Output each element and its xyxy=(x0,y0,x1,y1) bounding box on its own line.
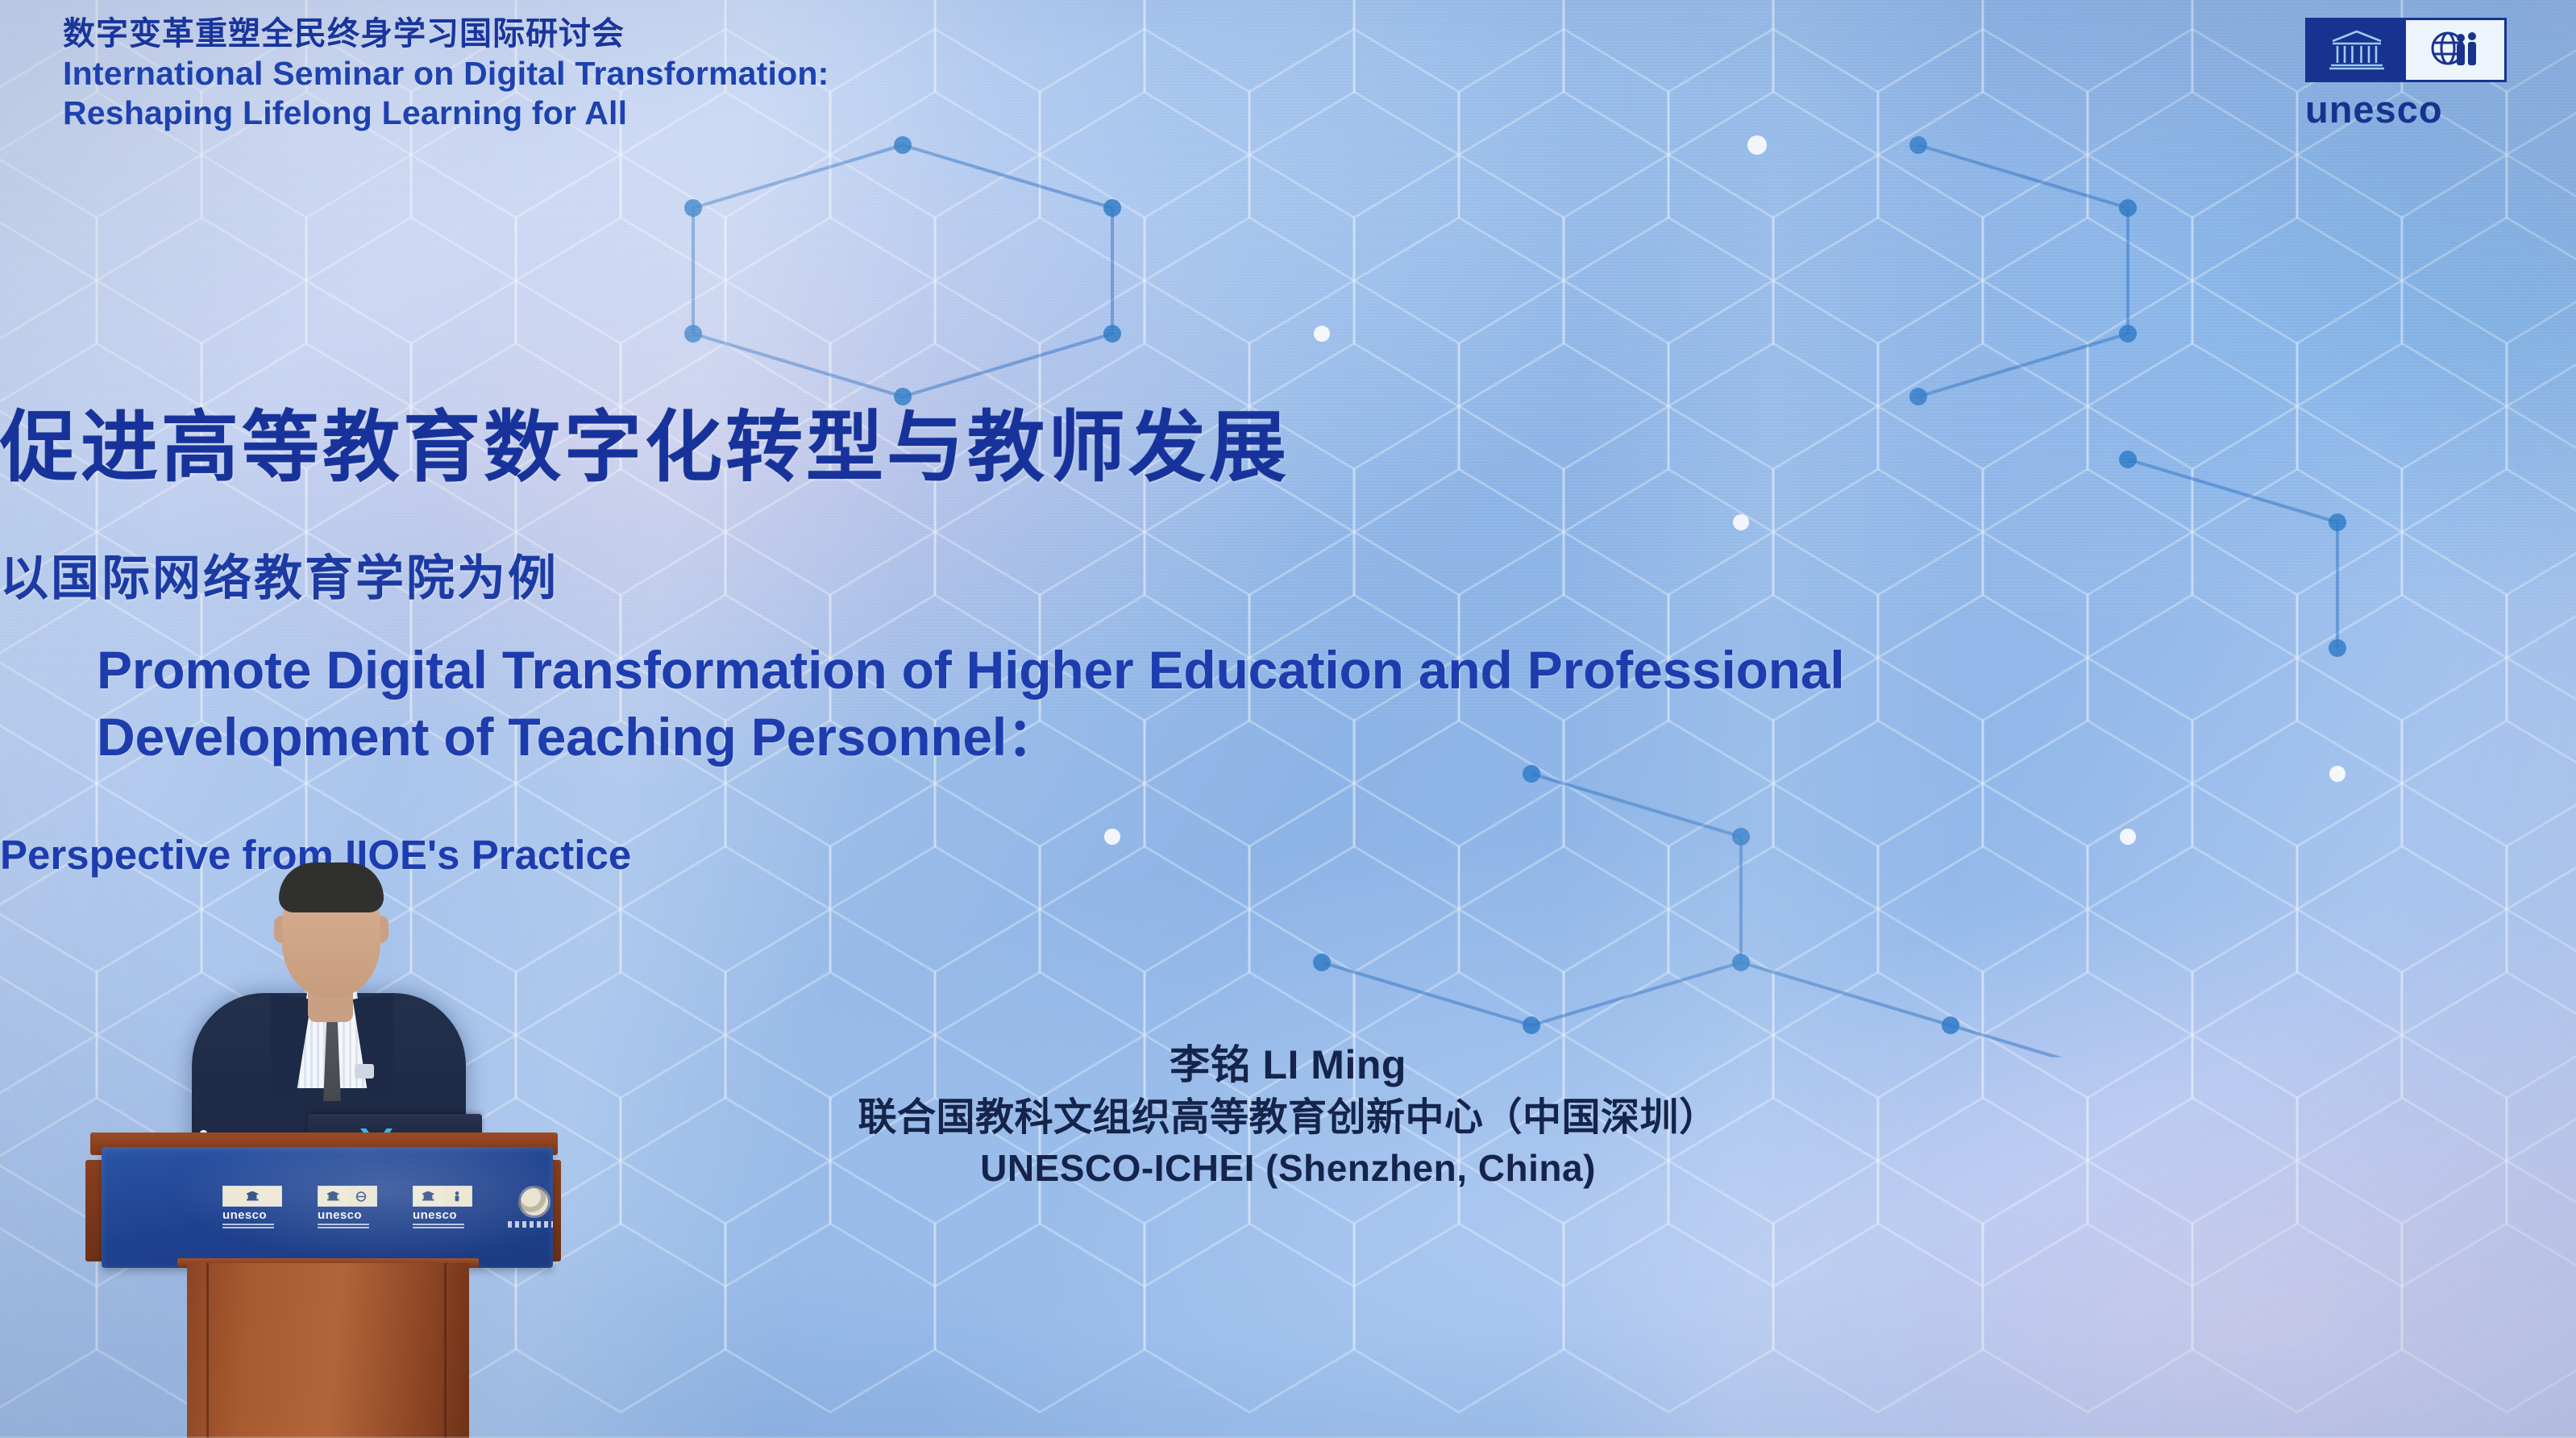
podium-logo-strip: unesco unesco xyxy=(222,1186,553,1228)
unesco-emblem xyxy=(2305,18,2507,82)
slide-title-en-line2: Development of Teaching Personnel： xyxy=(97,704,2479,771)
unesco-emblem-single xyxy=(222,1186,282,1207)
podium-unesco-logo-1: unesco xyxy=(222,1186,282,1228)
podium-partner-logo xyxy=(508,1186,553,1228)
podium-logo-panel: unesco unesco xyxy=(102,1147,553,1268)
globe-people-icon xyxy=(2406,20,2504,80)
event-title-en-line2: Reshaping Lifelong Learning for All xyxy=(63,94,829,133)
unesco-logo-subtext xyxy=(413,1223,464,1228)
person-icon xyxy=(442,1187,472,1206)
slide-title-zh-sub: 以国际网络教育学院为例 xyxy=(0,555,2576,603)
slide-title-zh-main: 促进高等教育数字化转型与教师发展 xyxy=(0,409,2576,487)
ichei-logo-subtext xyxy=(508,1221,553,1228)
unesco-logo-subtext xyxy=(318,1223,369,1228)
unesco-wordmark: unesco xyxy=(2305,90,2515,128)
unesco-logo-subtext xyxy=(222,1223,274,1228)
conference-stage-photo: 数字变革重塑全民终身学习国际研讨会 International Seminar … xyxy=(0,0,2576,1438)
globe-icon xyxy=(347,1187,376,1206)
greek-temple-icon xyxy=(223,1187,281,1206)
podium-unesco-logo-3: unesco xyxy=(413,1186,472,1228)
event-title-en-line1: International Seminar on Digital Transfo… xyxy=(63,54,829,94)
podium: unesco unesco xyxy=(74,1133,569,1438)
unesco-emblem-dual xyxy=(413,1186,472,1207)
greek-temple-icon xyxy=(2308,20,2406,80)
podium-unesco-logo-2: unesco xyxy=(318,1186,377,1228)
event-header: 数字变革重塑全民终身学习国际研讨会 International Seminar … xyxy=(63,15,829,133)
greek-temple-icon xyxy=(318,1187,347,1206)
unesco-wordmark: unesco xyxy=(318,1209,377,1221)
slide-title-en-line1: Promote Digital Transformation of Higher… xyxy=(97,637,2479,704)
event-title-zh: 数字变革重塑全民终身学习国际研讨会 xyxy=(63,15,829,54)
unesco-wordmark: unesco xyxy=(413,1209,472,1221)
slide-title-en: Promote Digital Transformation of Higher… xyxy=(0,637,2576,771)
unesco-emblem-dual xyxy=(318,1186,377,1207)
podium-column xyxy=(187,1263,469,1438)
speaker-hair xyxy=(279,862,384,912)
greek-temple-icon xyxy=(413,1187,442,1206)
unesco-logo: unesco xyxy=(2305,18,2515,128)
unesco-wordmark: unesco xyxy=(222,1209,282,1221)
speaker-lapel-pin xyxy=(355,1064,374,1078)
ichei-circular-mark-icon xyxy=(518,1186,551,1218)
